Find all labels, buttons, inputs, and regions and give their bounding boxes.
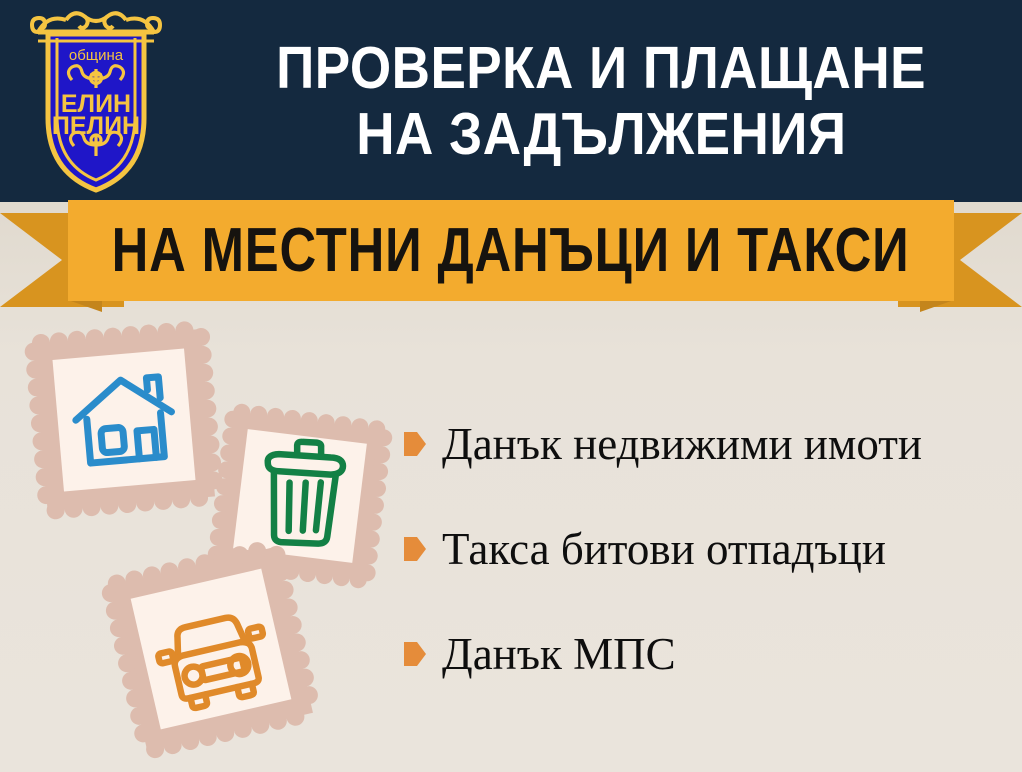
list-item[interactable]: Такса битови отпадъци <box>404 523 1014 575</box>
list-item-label: Данък недвижими имоти <box>442 422 922 467</box>
ribbon-text: НА МЕСТНИ ДАНЪЦИ И ТАКСИ <box>112 215 910 286</box>
municipality-logo: община ЕЛИН ПЕЛИН <box>22 6 170 194</box>
services-list: Данък недвижими имоти Такса битови отпад… <box>404 418 1014 733</box>
list-item-label: Данък МПС <box>442 632 676 677</box>
coat-of-arms-icon: община ЕЛИН ПЕЛИН <box>22 6 170 194</box>
header-bar: община ЕЛИН ПЕЛИН ПРОВЕРКА И ПЛАЩАНЕ НА … <box>0 0 1022 202</box>
page-title-line-2: НА ЗАДЪЛЖЕНИЯ <box>356 106 846 164</box>
bullet-arrow-icon <box>404 537 426 561</box>
logo-text-obshtina: община <box>69 47 124 64</box>
list-item-label: Такса битови отпадъци <box>442 527 886 572</box>
stamp-card-vehicle <box>96 534 326 764</box>
poster-canvas: община ЕЛИН ПЕЛИН ПРОВЕРКА И ПЛАЩАНЕ НА … <box>0 0 1022 772</box>
list-item[interactable]: Данък МПС <box>404 628 1014 680</box>
bullet-arrow-icon <box>404 642 426 666</box>
logo-text-pelin: ПЕЛИН <box>52 112 140 140</box>
ribbon-label: НА МЕСТНИ ДАНЪЦИ И ТАКСИ <box>68 200 954 301</box>
ribbon-banner: НА МЕСТНИ ДАНЪЦИ И ТАКСИ <box>0 196 1022 312</box>
list-item[interactable]: Данък недвижими имоти <box>404 418 1014 470</box>
page-title: ПРОВЕРКА И ПЛАЩАНЕ НА ЗАДЪЛЖЕНИЯ <box>180 14 1022 190</box>
page-title-line-1: ПРОВЕРКА И ПЛАЩАНЕ <box>276 40 926 98</box>
bullet-arrow-icon <box>404 432 426 456</box>
